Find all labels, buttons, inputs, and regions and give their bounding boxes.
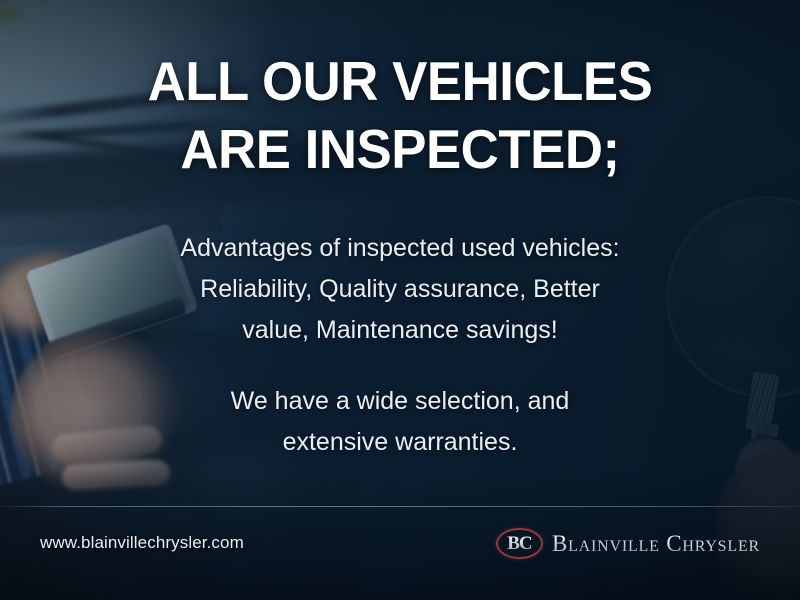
- body-line: We have a wide selection, and: [112, 381, 688, 422]
- headline-line-2: ARE INSPECTED;: [16, 122, 784, 177]
- headline: ALL OUR VEHICLES ARE INSPECTED;: [16, 54, 784, 177]
- bc-monogram-icon: BC: [496, 528, 543, 559]
- body-line: Reliability, Quality assurance, Better: [112, 269, 688, 310]
- footer-divider: [0, 506, 800, 507]
- body-line: Advantages of inspected used vehicles:: [112, 228, 688, 269]
- body-line: extensive warranties.: [112, 422, 688, 463]
- body-copy: Advantages of inspected used vehicles: R…: [112, 228, 688, 463]
- monogram-letters: BC: [507, 533, 531, 555]
- brand-logo[interactable]: BC Blainville Chrysler: [496, 528, 760, 559]
- brand-name: Blainville Chrysler: [552, 531, 760, 557]
- slide-content: ALL OUR VEHICLES ARE INSPECTED; Advantag…: [0, 0, 800, 600]
- promotional-slide: ALL OUR VEHICLES ARE INSPECTED; Advantag…: [0, 0, 800, 600]
- body-paragraph-2: We have a wide selection, and extensive …: [112, 381, 688, 463]
- website-url[interactable]: www.blainvillechrysler.com: [40, 533, 244, 553]
- body-line: value, Maintenance savings!: [112, 310, 688, 351]
- headline-line-1: ALL OUR VEHICLES: [16, 54, 784, 109]
- body-paragraph-1: Advantages of inspected used vehicles: R…: [112, 228, 688, 351]
